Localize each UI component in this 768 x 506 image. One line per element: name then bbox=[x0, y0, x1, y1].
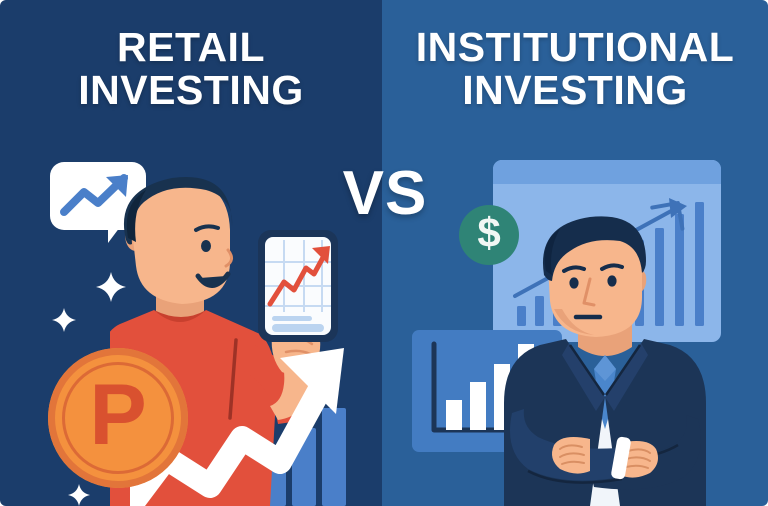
right-title-line2: INVESTING bbox=[392, 69, 758, 112]
sparkle-icon bbox=[52, 308, 76, 332]
versus-label: VS bbox=[320, 158, 450, 229]
right-panel-title: INSTITUTIONAL INVESTING bbox=[392, 26, 758, 111]
board-top-header-bar bbox=[493, 160, 721, 184]
businessman-illustration bbox=[470, 205, 740, 506]
left-title-line1: RETAIL bbox=[117, 24, 265, 70]
peso-coin-icon: P bbox=[48, 348, 188, 488]
right-title-line1: INSTITUTIONAL bbox=[416, 24, 735, 70]
coin-symbol: P bbox=[48, 348, 188, 488]
left-title-line2: INVESTING bbox=[18, 69, 364, 112]
comparison-infographic: RETAIL INVESTING INSTITUTIONAL INVESTING bbox=[0, 0, 768, 506]
smartphone-stock-chart bbox=[256, 228, 340, 344]
left-panel-title: RETAIL INVESTING bbox=[18, 26, 364, 111]
